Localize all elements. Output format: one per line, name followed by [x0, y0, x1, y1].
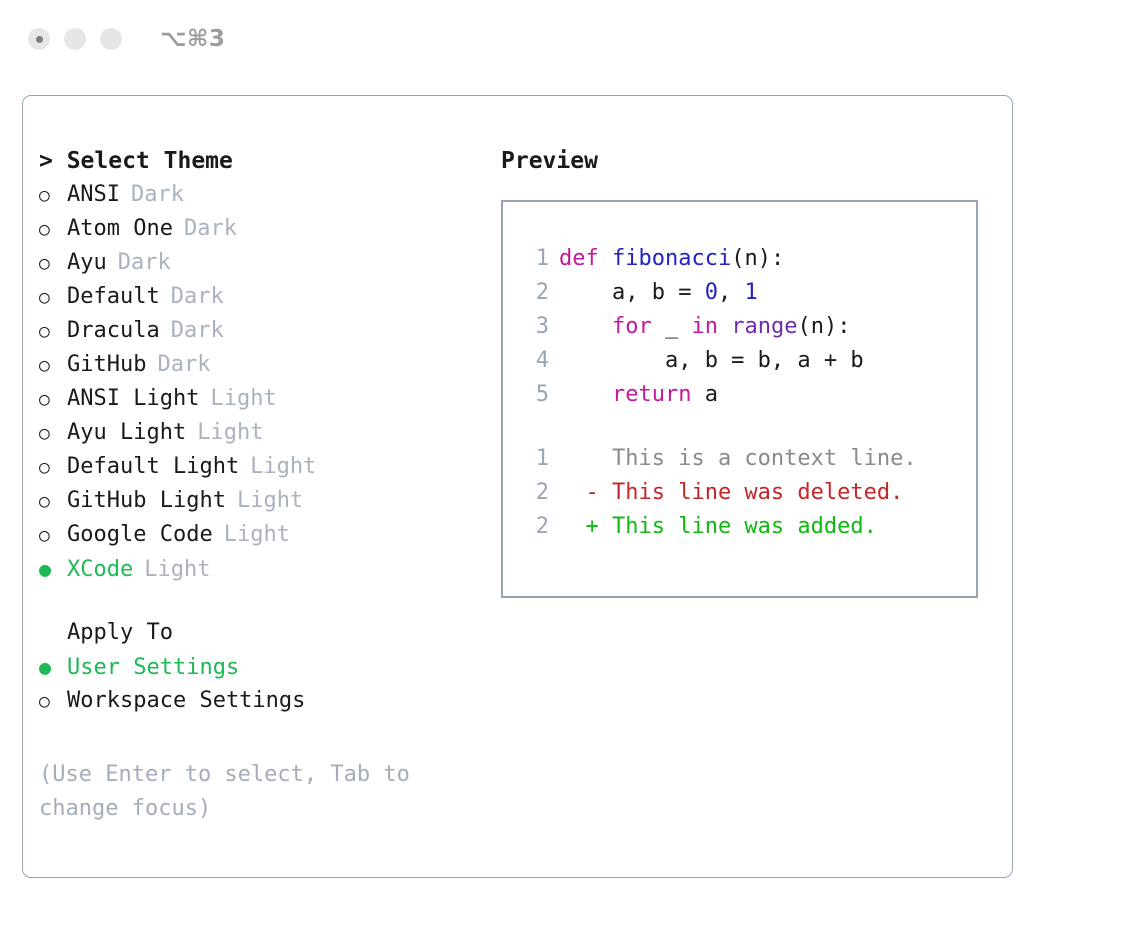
code-line-number: 4	[517, 344, 559, 378]
code-line-2: 3 for _ in range(n):	[517, 310, 976, 344]
code-line-4: 5 return a	[517, 378, 976, 412]
token-plain: (n):	[797, 314, 850, 339]
token-plain: a	[691, 382, 718, 407]
token-kw: def	[559, 246, 612, 271]
theme-option-3[interactable]: ○DefaultDark	[39, 280, 479, 314]
theme-preview-box: 1def fibonacci(n):2 a, b = 0, 13 for _ i…	[501, 200, 978, 598]
code-line-number: 1	[517, 242, 559, 276]
theme-option-0[interactable]: ○ANSIDark	[39, 178, 479, 212]
apply-to-option-label: Workspace Settings	[67, 684, 305, 718]
apply-to-heading: Apply To	[39, 616, 479, 650]
theme-option-label: Ayu Light	[67, 416, 186, 450]
keyboard-shortcut-label: ⌥⌘3	[160, 26, 225, 52]
theme-option-label: ANSI Light	[67, 382, 199, 416]
radio-unselected-icon: ○	[39, 685, 67, 719]
token-plain	[718, 314, 731, 339]
radio-unselected-icon: ○	[39, 485, 67, 519]
theme-option-1[interactable]: ○Atom OneDark	[39, 212, 479, 246]
code-line-text: def fibonacci(n):	[559, 242, 784, 276]
diff-line-number: 2	[517, 510, 559, 544]
theme-option-6[interactable]: ○ANSI LightLight	[39, 382, 479, 416]
theme-option-10[interactable]: ○Google CodeLight	[39, 518, 479, 552]
window-control-dot-3[interactable]	[100, 28, 122, 50]
theme-option-label: Google Code	[67, 518, 213, 552]
theme-option-label: GitHub	[67, 348, 146, 382]
token-plain	[559, 382, 612, 407]
radio-unselected-icon: ○	[39, 519, 67, 553]
radio-unselected-icon: ○	[39, 315, 67, 349]
hint-spacer	[39, 718, 479, 758]
code-line-text: a, b = 0, 1	[559, 276, 758, 310]
preview-column: Preview 1def fibonacci(n):2 a, b = 0, 13…	[501, 144, 1001, 598]
diff-line-number: 2	[517, 476, 559, 510]
code-line-1: 2 a, b = 0, 1	[517, 276, 976, 310]
code-line-number: 2	[517, 276, 559, 310]
diff-line-text-ctx: This is a context line.	[559, 442, 917, 476]
diff-line-1: 2 - This line was deleted.	[517, 476, 976, 510]
token-kw: return	[612, 382, 691, 407]
theme-picker-card: > Select Theme ○ANSIDark○Atom OneDark○Ay…	[22, 95, 1013, 878]
theme-option-4[interactable]: ○DraculaDark	[39, 314, 479, 348]
code-line-3: 4 a, b = b, a + b	[517, 344, 976, 378]
keyboard-hint-text: (Use Enter to select, Tab to change focu…	[39, 758, 439, 826]
theme-option-tag: Light	[133, 553, 210, 587]
section-spacer	[39, 586, 479, 616]
theme-option-11[interactable]: ●XCodeLight	[39, 552, 479, 586]
theme-option-tag: Light	[239, 450, 316, 484]
theme-option-9[interactable]: ○GitHub LightLight	[39, 484, 479, 518]
apply-to-option-label: User Settings	[67, 651, 239, 685]
token-plain: (n):	[731, 246, 784, 271]
preview-heading: Preview	[501, 144, 1001, 178]
theme-option-label: Atom One	[67, 212, 173, 246]
diff-line-number: 1	[517, 442, 559, 476]
theme-option-label: GitHub Light	[67, 484, 226, 518]
window-control-dot-1[interactable]	[28, 28, 50, 50]
select-theme-heading: > Select Theme	[39, 144, 479, 178]
token-num: 0	[705, 280, 718, 305]
apply-to-option-list[interactable]: ●User Settings○Workspace Settings	[39, 650, 479, 718]
theme-option-tag: Light	[186, 416, 263, 450]
theme-option-label: Default Light	[67, 450, 239, 484]
radio-unselected-icon: ○	[39, 281, 67, 315]
radio-unselected-icon: ○	[39, 451, 67, 485]
theme-option-label: XCode	[67, 553, 133, 587]
token-plain: ,	[718, 280, 745, 305]
theme-option-tag: Dark	[160, 314, 224, 348]
theme-option-label: Ayu	[67, 246, 107, 280]
radio-unselected-icon: ○	[39, 383, 67, 417]
theme-selection-column: > Select Theme ○ANSIDark○Atom OneDark○Ay…	[39, 144, 479, 826]
token-plain: a, b = b, a + b	[559, 348, 864, 373]
code-sample: 1def fibonacci(n):2 a, b = 0, 13 for _ i…	[517, 242, 976, 412]
window-titlebar: ⌥⌘3	[0, 0, 1140, 78]
radio-selected-icon: ●	[39, 650, 67, 684]
code-line-text: return a	[559, 378, 718, 412]
code-line-text: for _ in range(n):	[559, 310, 850, 344]
apply-to-option-0[interactable]: ●User Settings	[39, 650, 479, 684]
card-columns: > Select Theme ○ANSIDark○Atom OneDark○Ay…	[23, 96, 1012, 877]
diff-line-0: 1 This is a context line.	[517, 442, 976, 476]
token-plain	[559, 314, 612, 339]
theme-option-2[interactable]: ○AyuDark	[39, 246, 479, 280]
radio-unselected-icon: ○	[39, 349, 67, 383]
radio-unselected-icon: ○	[39, 179, 67, 213]
code-line-number: 3	[517, 310, 559, 344]
theme-option-tag: Dark	[120, 178, 184, 212]
code-line-0: 1def fibonacci(n):	[517, 242, 976, 276]
token-plain: _	[652, 314, 692, 339]
radio-selected-icon: ●	[39, 552, 67, 586]
apply-to-option-1[interactable]: ○Workspace Settings	[39, 684, 479, 718]
token-plain: a, b =	[559, 280, 705, 305]
radio-unselected-icon: ○	[39, 247, 67, 281]
theme-option-list[interactable]: ○ANSIDark○Atom OneDark○AyuDark○DefaultDa…	[39, 178, 479, 586]
radio-unselected-icon: ○	[39, 213, 67, 247]
window-controls	[28, 28, 122, 50]
theme-option-tag: Dark	[160, 280, 224, 314]
theme-option-label: ANSI	[67, 178, 120, 212]
code-line-number: 5	[517, 378, 559, 412]
diff-sample: 1 This is a context line.2 - This line w…	[517, 442, 976, 544]
theme-option-7[interactable]: ○Ayu LightLight	[39, 416, 479, 450]
code-diff-spacer	[517, 412, 976, 442]
code-line-text: a, b = b, a + b	[559, 344, 864, 378]
theme-option-label: Default	[67, 280, 160, 314]
dot-indicator-icon	[36, 36, 43, 43]
radio-unselected-icon: ○	[39, 417, 67, 451]
theme-option-5[interactable]: ○GitHubDark	[39, 348, 479, 382]
diff-line-text-add: + This line was added.	[559, 510, 877, 544]
theme-option-tag: Light	[199, 382, 276, 416]
theme-option-8[interactable]: ○Default LightLight	[39, 450, 479, 484]
theme-option-tag: Light	[226, 484, 303, 518]
token-fn: fibonacci	[612, 246, 731, 271]
window-control-dot-2[interactable]	[64, 28, 86, 50]
theme-option-tag: Dark	[107, 246, 171, 280]
diff-line-2: 2 + This line was added.	[517, 510, 976, 544]
theme-option-tag: Dark	[146, 348, 210, 382]
theme-option-tag: Light	[213, 518, 290, 552]
diff-line-text-del: - This line was deleted.	[559, 476, 903, 510]
theme-option-tag: Dark	[173, 212, 237, 246]
token-kw: for	[612, 314, 652, 339]
token-kw: in	[691, 314, 718, 339]
token-num: 1	[744, 280, 757, 305]
theme-option-label: Dracula	[67, 314, 160, 348]
token-builtin: range	[731, 314, 797, 339]
